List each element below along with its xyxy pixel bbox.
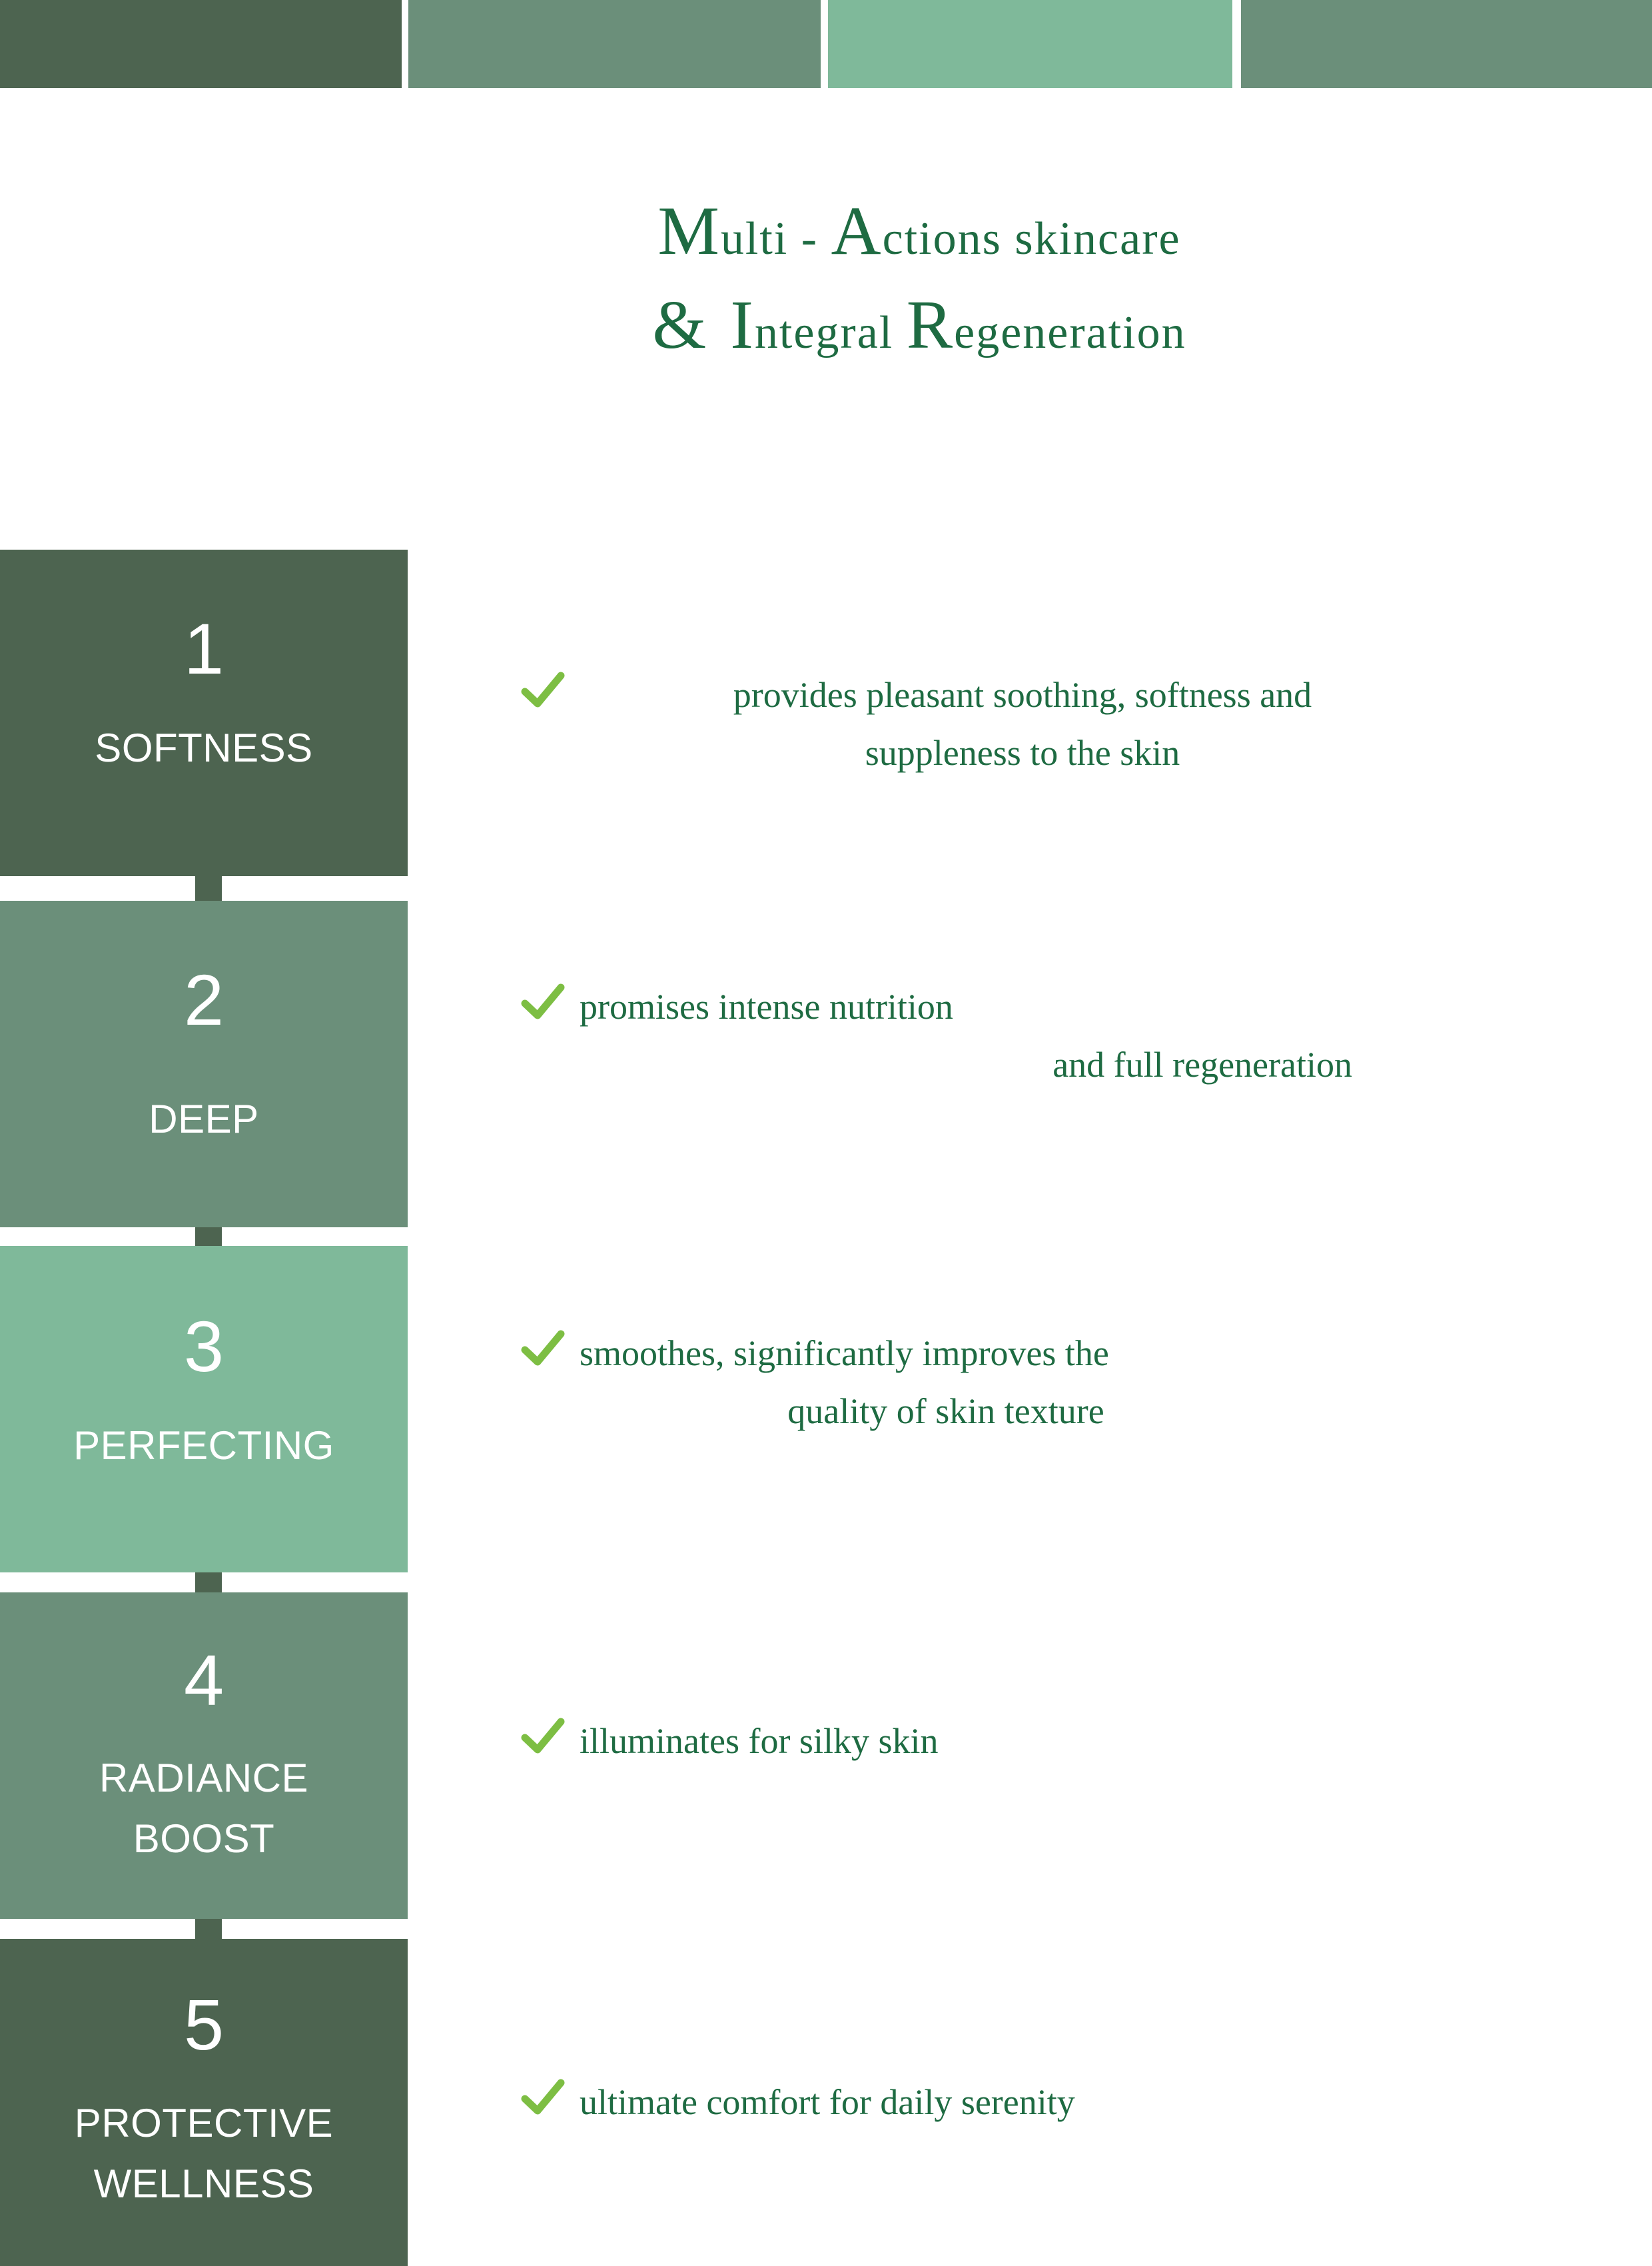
title-cap-m: M — [657, 193, 720, 269]
benefit-row-2: promises intense nutritionand full regen… — [520, 978, 1465, 1095]
title-rest-actions: ctions skincare — [883, 213, 1181, 265]
step-label-5: PROTECTIVEWELLNESS — [0, 2099, 408, 2208]
top-bar-3 — [828, 0, 1232, 88]
benefit-line-1: provides pleasant soothing, softness and — [580, 666, 1465, 724]
step-label-2: DEEP — [0, 1095, 408, 1143]
benefit-row-4: illuminates for silky skin — [520, 1712, 1465, 1770]
step-number-1: 1 — [0, 613, 408, 685]
benefit-row-1: provides pleasant soothing, softness and… — [520, 666, 1465, 783]
benefit-line-1: promises intense nutrition — [580, 978, 1465, 1036]
benefit-line-2: suppleness to the skin — [580, 724, 1465, 782]
step-column: 1SOFTNESS2DEEP3PERFECTING4RADIANCEBOOST5… — [0, 0, 408, 2266]
benefit-row-5: ultimate comfort for daily serenity — [520, 2073, 1465, 2131]
step-label-line: BOOST — [0, 1814, 408, 1863]
step-label-line: RADIANCE — [0, 1754, 408, 1802]
benefit-text-4: illuminates for silky skin — [580, 1712, 1465, 1770]
step-label-line: PROTECTIVE — [0, 2099, 408, 2147]
connector-1-2 — [195, 876, 222, 901]
benefit-line-1: illuminates for silky skin — [580, 1712, 1465, 1770]
step-label-line: WELLNESS — [0, 2159, 408, 2208]
title-cap-r: R — [907, 286, 954, 363]
check-icon — [520, 1329, 566, 1369]
step-box-3[interactable] — [0, 1246, 408, 1572]
step-number-4: 4 — [0, 1644, 408, 1716]
check-icon — [520, 1716, 566, 1756]
page-title-line-2: &Integral Regeneration — [426, 290, 1412, 360]
title-ampersand: & — [652, 286, 707, 363]
step-label-1: SOFTNESS — [0, 724, 408, 772]
step-box-2[interactable] — [0, 901, 408, 1227]
check-icon — [520, 2077, 566, 2117]
title-rest-regeneration: egeneration — [954, 307, 1186, 358]
title-rest-integral: ntegral — [755, 307, 907, 358]
step-number-5: 5 — [0, 1989, 408, 2061]
page-title-line-1: Multi - Actions skincare — [426, 200, 1412, 263]
benefit-line-1: ultimate comfort for daily serenity — [580, 2073, 1465, 2131]
title-cap-a: A — [831, 193, 883, 269]
top-bar-2 — [408, 0, 821, 88]
benefit-text-3: smoothes, significantly improves thequal… — [580, 1325, 1465, 1441]
check-icon — [520, 670, 566, 710]
title-cap-i: I — [730, 286, 755, 363]
benefit-line-2: quality of skin texture — [580, 1383, 1465, 1440]
step-number-3: 3 — [0, 1311, 408, 1383]
benefit-row-3: smoothes, significantly improves thequal… — [520, 1325, 1465, 1441]
check-icon — [520, 982, 566, 1022]
page-title: Multi - Actions skincare &Integral Regen… — [426, 200, 1412, 360]
step-label-3: PERFECTING — [0, 1421, 408, 1470]
step-box-1[interactable] — [0, 550, 408, 876]
top-bar-4 — [1241, 0, 1652, 88]
benefit-text-1: provides pleasant soothing, softness and… — [580, 666, 1465, 783]
benefit-line-2: and full regeneration — [580, 1036, 1465, 1094]
step-label-4: RADIANCEBOOST — [0, 1754, 408, 1863]
connector-2-3 — [195, 1227, 222, 1246]
connector-4-5 — [195, 1919, 222, 1939]
benefit-text-2: promises intense nutritionand full regen… — [580, 978, 1465, 1095]
connector-3-4 — [195, 1572, 222, 1592]
benefit-text-5: ultimate comfort for daily serenity — [580, 2073, 1465, 2131]
title-rest-multi: ulti - — [721, 213, 831, 265]
benefit-line-1: smoothes, significantly improves the — [580, 1325, 1465, 1383]
step-number-2: 2 — [0, 964, 408, 1036]
